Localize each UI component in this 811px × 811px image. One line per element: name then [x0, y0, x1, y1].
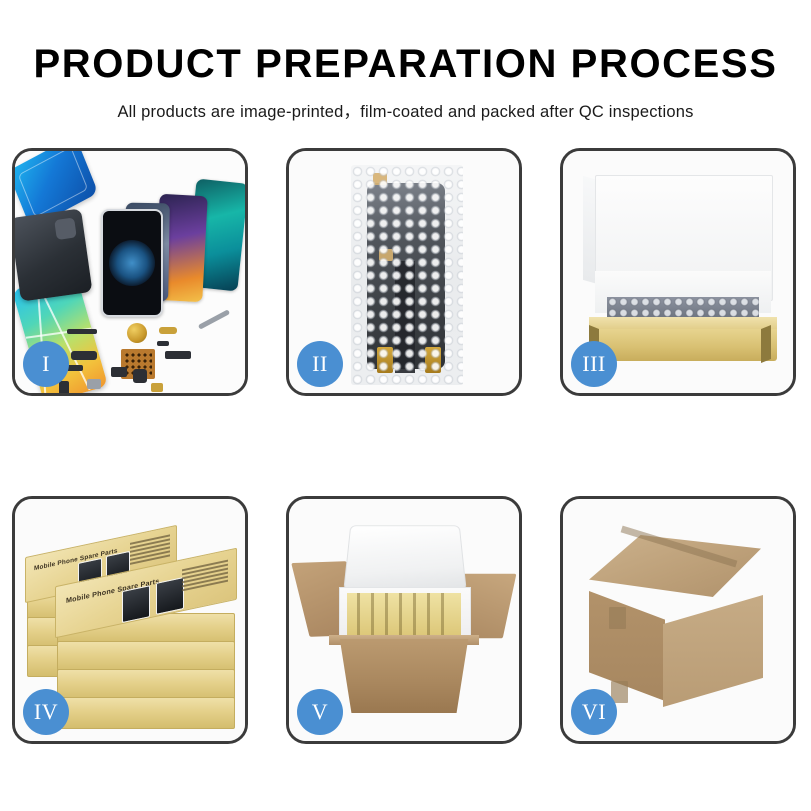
page-title: PRODUCT PREPARATION PROCESS [0, 44, 811, 84]
box-corner-right [761, 325, 771, 363]
process-step-4[interactable]: Mobile Phone Spare Parts Mobile Phone Sp… [12, 496, 248, 744]
flex-cable-component [165, 351, 191, 359]
carton-tape-patch [609, 607, 626, 629]
bracket-component [87, 379, 101, 389]
phone-back-housing [15, 208, 92, 301]
small-component [157, 341, 169, 346]
screw-set-component [151, 383, 163, 392]
process-step-3[interactable]: III [560, 148, 796, 396]
sim-tray-component [59, 381, 69, 393]
bubble-texture [351, 165, 463, 385]
connector-component [159, 327, 177, 334]
step-badge-2: II [297, 341, 343, 387]
process-step-6[interactable]: VI [560, 496, 796, 744]
step-badge-5: V [297, 689, 343, 735]
page-subtitle: All products are image-printed，film-coat… [0, 98, 811, 122]
box-spec-lines [182, 560, 228, 598]
carton-front-face [331, 639, 477, 713]
process-step-5[interactable]: V [286, 496, 522, 744]
bubble-wrap-bag [351, 165, 463, 385]
step-badge-3: III [571, 341, 617, 387]
vibrator-component [111, 367, 127, 377]
page-header: PRODUCT PREPARATION PROCESS All products… [0, 0, 811, 122]
step-badge-4: IV [23, 689, 69, 735]
process-step-2[interactable]: II [286, 148, 522, 396]
product-photo-thumb [156, 577, 184, 615]
step-badge-1: I [23, 341, 69, 387]
camera-lens-component [127, 323, 147, 343]
gold-boxes-inside [347, 593, 461, 635]
flex-cable-component [67, 329, 97, 334]
button-component [133, 369, 147, 383]
speaker-component [71, 351, 97, 360]
foam-cooler-lid [343, 525, 466, 590]
product-photo-thumb [122, 585, 150, 623]
process-step-1[interactable]: I [12, 148, 248, 396]
box-tray-front [589, 329, 777, 361]
process-panel-grid: I II [12, 148, 799, 744]
stacked-box [57, 697, 235, 729]
step-badge-6: VI [571, 689, 617, 735]
screen-protector-glass [101, 209, 163, 317]
carton-right-face [663, 595, 763, 707]
